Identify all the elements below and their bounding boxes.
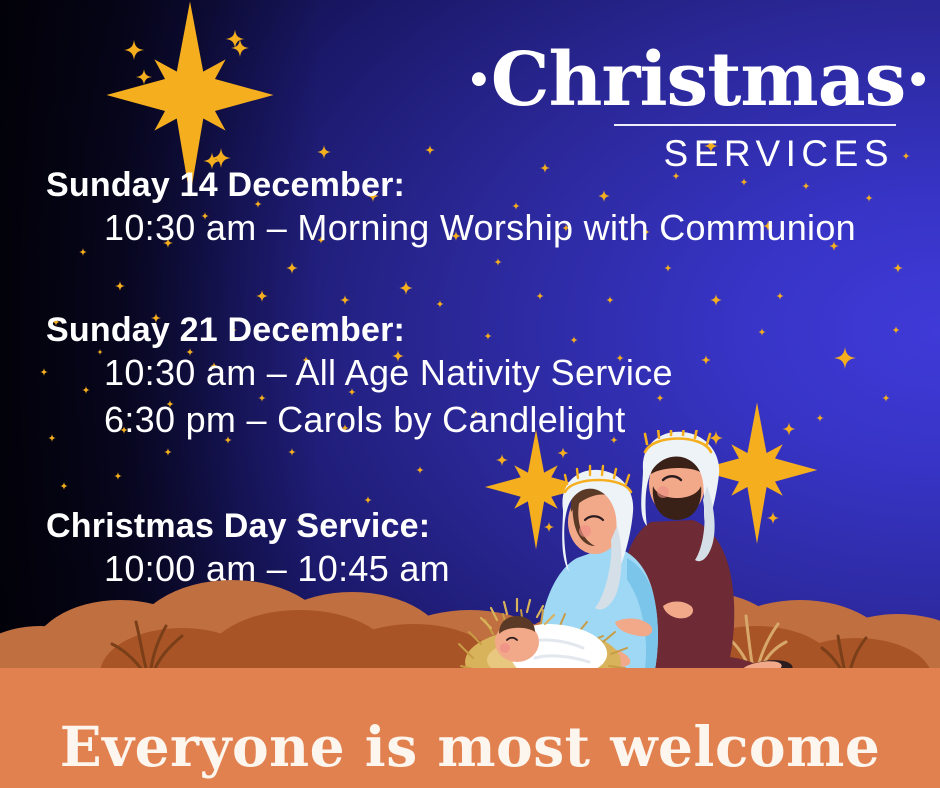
poster-header: ·Christmas· SERVICES bbox=[466, 44, 896, 175]
sparkle-star-icon bbox=[122, 38, 146, 62]
sparkle-star-icon bbox=[315, 143, 333, 161]
schedule-group: Sunday 21 December: 10:30 am – All Age N… bbox=[0, 310, 940, 444]
schedule-heading: Sunday 21 December: bbox=[0, 310, 940, 350]
sparkle-star-icon bbox=[900, 150, 912, 162]
page-title: ·Christmas· bbox=[466, 44, 896, 117]
schedule-heading: Sunday 14 December: bbox=[0, 165, 940, 205]
schedule-line: 10:30 am – Morning Worship with Communio… bbox=[0, 205, 940, 252]
schedule-spacer bbox=[0, 252, 940, 310]
title-divider bbox=[614, 124, 896, 126]
sparkle-star-icon bbox=[223, 27, 246, 50]
schedule-line: 10:30 am – All Age Nativity Service bbox=[0, 350, 940, 397]
schedule-group: Sunday 14 December: 10:30 am – Morning W… bbox=[0, 165, 940, 252]
footer-message: Everyone is most welcome bbox=[0, 719, 940, 774]
sparkle-star-icon bbox=[423, 143, 437, 157]
christmas-services-poster: ·Christmas· SERVICES Sunday 14 December:… bbox=[0, 0, 940, 788]
